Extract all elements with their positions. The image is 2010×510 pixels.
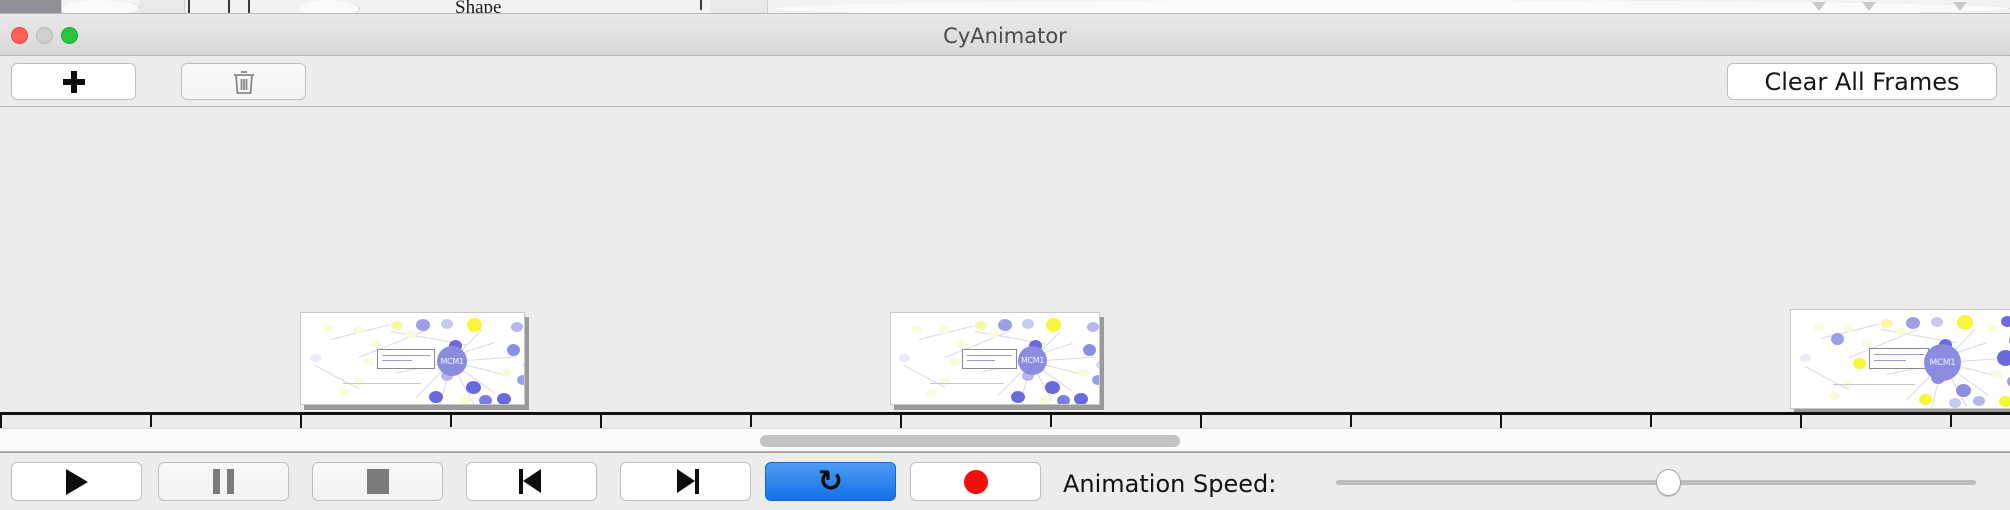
- trash-icon: [231, 68, 257, 96]
- keyframe-thumbnail[interactable]: MCM1: [300, 312, 525, 405]
- timeline-panel[interactable]: MCM1: [0, 107, 2010, 428]
- hub-node-mcm1: MCM1: [1924, 344, 1961, 381]
- background-desktop-strip: Shape: [0, 0, 2010, 14]
- stop-button[interactable]: [312, 462, 443, 501]
- axis-minor-tick: [150, 415, 152, 427]
- window-titlebar: CyAnimator: [0, 14, 2010, 56]
- bg-window-chip: [710, 0, 768, 14]
- pause-button[interactable]: [158, 462, 289, 501]
- axis-major-tick: [1800, 415, 1802, 428]
- keyframe-thumbnail[interactable]: MCM1: [890, 312, 1100, 405]
- axis-major-tick: [0, 415, 2, 428]
- loop-icon: ↻: [818, 467, 843, 497]
- network-graph-thumbnail: MCM1: [300, 312, 525, 405]
- axis-major-tick: [300, 415, 302, 428]
- axis-major-tick: [900, 415, 902, 428]
- axis-minor-tick: [1050, 415, 1052, 427]
- axis-major-tick: [600, 415, 602, 428]
- bg-caret-icon: [1862, 2, 1876, 11]
- plus-icon: [63, 71, 85, 93]
- bg-divider: [248, 0, 250, 14]
- bg-divider: [188, 0, 190, 14]
- record-icon: [964, 470, 988, 494]
- slider-thumb[interactable]: [1656, 469, 1681, 496]
- bg-divider: [228, 0, 230, 14]
- bg-window-chip: [140, 0, 185, 14]
- skip-previous-button[interactable]: [466, 462, 597, 501]
- skip-previous-icon: [519, 469, 545, 494]
- bg-window-chip: [0, 0, 62, 14]
- axis-minor-tick: [750, 415, 752, 427]
- axis-minor-tick: [1950, 415, 1952, 427]
- node-tooltip: [962, 349, 1017, 369]
- playback-control-bar: ↻ Animation Speed:: [0, 452, 2010, 510]
- network-graph-thumbnail: MCM1: [890, 312, 1100, 405]
- bg-window-chip: [300, 0, 360, 14]
- cyanimator-window: CyAnimator Clear All Frames: [0, 14, 2010, 510]
- node-tooltip: [377, 349, 435, 369]
- add-frame-button[interactable]: [11, 63, 136, 100]
- skip-next-button[interactable]: [620, 462, 751, 501]
- axis-major-tick: [1500, 415, 1502, 428]
- window-title: CyAnimator: [0, 24, 2010, 48]
- bg-caret-icon: [1953, 2, 1967, 11]
- delete-frame-button[interactable]: [181, 63, 306, 100]
- axis-minor-tick: [1650, 415, 1652, 427]
- bg-caret-icon: [1812, 2, 1826, 11]
- pause-icon: [213, 469, 234, 494]
- axis-major-tick: [1200, 415, 1202, 428]
- record-button[interactable]: [910, 462, 1041, 501]
- animation-speed-label: Animation Speed:: [1063, 470, 1276, 498]
- stop-icon: [367, 469, 389, 494]
- clear-all-frames-button[interactable]: Clear All Frames: [1727, 63, 1997, 100]
- node-tooltip: [1869, 348, 1929, 369]
- horizontal-scrollbar-track[interactable]: [0, 428, 2010, 452]
- play-icon: [66, 469, 88, 495]
- play-button[interactable]: [11, 462, 142, 501]
- bg-shape-label: Shape: [455, 0, 501, 14]
- bg-window-chip: [62, 0, 140, 14]
- keyframe-thumbnail[interactable]: MCM1: [1790, 309, 2010, 409]
- skip-next-icon: [673, 469, 699, 494]
- animation-speed-slider[interactable]: [1336, 469, 1976, 495]
- hub-node-mcm1: MCM1: [437, 346, 467, 376]
- axis-minor-tick: [1350, 415, 1352, 427]
- bg-divider: [700, 0, 702, 10]
- network-graph-thumbnail: MCM1: [1790, 309, 2010, 409]
- hub-node-mcm1: MCM1: [1018, 346, 1047, 375]
- axis-minor-tick: [450, 415, 452, 427]
- frames-toolbar: Clear All Frames: [0, 56, 2010, 107]
- loop-button[interactable]: ↻: [765, 462, 896, 501]
- horizontal-scrollbar-thumb[interactable]: [760, 435, 1180, 447]
